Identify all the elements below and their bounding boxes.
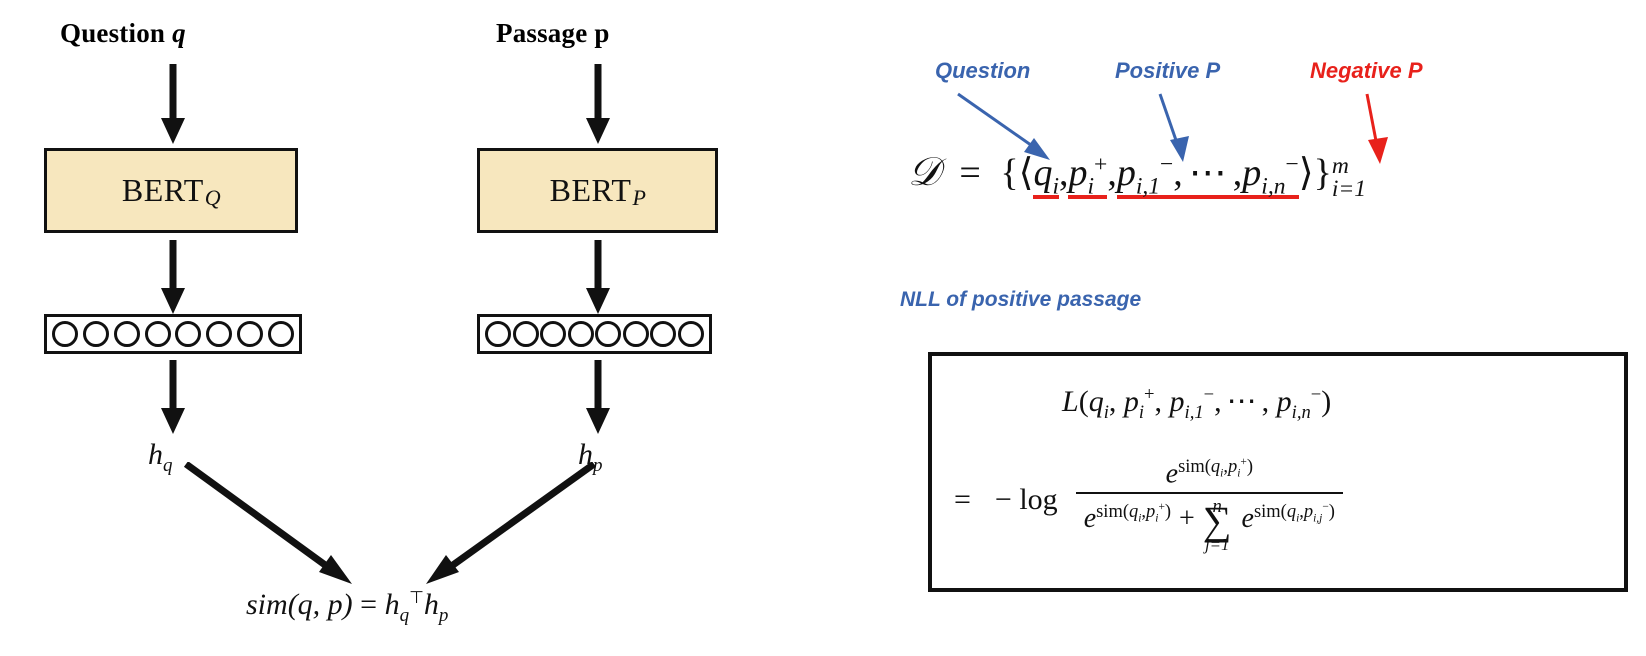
loss-formula-box: L(qi, pi+, pi,1−,⋯, pi,n−) = − log esim(… <box>928 352 1628 592</box>
den-sim-2: sim <box>1254 501 1281 521</box>
arrow-question-to-encoder <box>153 64 193 146</box>
embedding-cell <box>678 321 704 347</box>
embedding-cell <box>650 321 676 347</box>
encoder-box-passage-subscript: P <box>632 185 646 211</box>
den-p-1: p <box>1146 501 1155 521</box>
dataset-term-negative-last-sup: − <box>1286 151 1299 177</box>
loss-fraction-numerator: esim(qi,pi+) <box>1158 456 1261 492</box>
dataset-close-sub: i=1 <box>1332 178 1366 202</box>
hidden-vector-label-question: hq <box>148 438 173 477</box>
dataset-open-brace: {⟨ <box>1000 152 1033 194</box>
den-q-2: q <box>1287 501 1296 521</box>
loss-arg-pos-sub: i <box>1139 402 1144 423</box>
embedding-cell <box>595 321 621 347</box>
num-p: p <box>1228 456 1237 476</box>
loss-arg-negn-sub: i,n <box>1292 402 1311 423</box>
embedding-cell <box>114 321 140 347</box>
dataset-term-negatives: pi,1−,⋯,pi,n− <box>1117 152 1299 199</box>
dataset-term-negative-last-base: p <box>1242 152 1261 194</box>
loss-arg-neg1: p <box>1170 385 1185 418</box>
den-p-sub-2: i,j <box>1313 513 1322 525</box>
embedding-cell <box>485 321 511 347</box>
loss-arg-q-sub: i <box>1104 402 1109 423</box>
arrow-vector-to-hq <box>153 360 193 436</box>
similarity-rhs-base: h <box>385 588 400 621</box>
dataset-term-negative-first-sub: i,1 <box>1136 174 1160 200</box>
callout-label-question-text: Question <box>935 58 1030 83</box>
encoder-box-question[interactable]: BERTQ <box>44 148 298 233</box>
loss-arg-q: q <box>1089 385 1104 418</box>
encoder-box-passage-label: BERT <box>550 172 632 209</box>
loss-arg-negn: p <box>1277 385 1292 418</box>
arrow-encoder-to-vector-passage <box>578 240 618 316</box>
embedding-vector-question[interactable] <box>44 314 302 354</box>
similarity-transpose: ⊤ <box>409 588 424 607</box>
arrow-vector-to-hp <box>578 360 618 436</box>
embedding-cell <box>206 321 232 347</box>
dataset-term-negative-last-sub: i,n <box>1261 174 1285 200</box>
loss-arg-neg1-sub: i,1 <box>1185 402 1204 423</box>
loss-arg-pos-sup: + <box>1144 384 1155 405</box>
num-exp-base: e <box>1166 458 1178 489</box>
loss-formula-line1: L(qi, pi+, pi,1−,⋯, pi,n−) <box>1062 384 1331 424</box>
dataset-term-positive-sub: i <box>1087 174 1094 200</box>
callout-label-positive-text: Positive P <box>1115 58 1220 83</box>
num-sim: sim <box>1178 456 1205 476</box>
dataset-comma-2: , <box>1107 152 1117 194</box>
loss-arg-negn-sup: − <box>1311 384 1322 405</box>
num-p-sup: + <box>1240 456 1246 468</box>
similarity-rhs-base2: h <box>424 588 439 621</box>
dataset-term-question: qi <box>1033 152 1059 199</box>
callout-label-positive: Positive P <box>1115 58 1220 84</box>
embedding-cell <box>237 321 263 347</box>
dataset-ellipsis: ⋯ <box>1183 152 1233 194</box>
loss-fraction-denominator: esim(qi,pi+)+∑j=1nesim(qi,pi,j−) <box>1076 492 1343 544</box>
loss-open-paren: ( <box>1079 385 1089 418</box>
loss-fn-symbol: L <box>1062 385 1079 418</box>
dataset-term-negative-first-sup: − <box>1160 151 1173 177</box>
embedding-cell <box>175 321 201 347</box>
loss-equals: = <box>954 483 971 517</box>
dataset-term-positive-sup: + <box>1094 151 1107 177</box>
callout-label-negative: Negative P <box>1310 58 1423 84</box>
embedding-cell <box>83 321 109 347</box>
callout-label-question: Question <box>935 58 1030 84</box>
embedding-cell <box>568 321 594 347</box>
loss-section-label: NLL of positive passage <box>900 288 1141 312</box>
right-panel: Question Positive P Negative P 𝒟 = {⟨qi,… <box>880 0 1646 656</box>
encoder-box-question-subscript: Q <box>205 185 221 211</box>
den-q-1: q <box>1129 501 1138 521</box>
den-p-2: p <box>1304 501 1313 521</box>
dataset-equals: = <box>949 152 990 194</box>
dataset-close-sup: m <box>1332 155 1366 179</box>
question-branch-title: Question q <box>60 18 186 49</box>
figure-canvas: Question q Passage p BERTQ BERTP <box>0 0 1646 656</box>
encoder-box-question-label: BERT <box>122 172 204 209</box>
embedding-cell <box>268 321 294 347</box>
den-summation: ∑j=1n <box>1203 497 1232 544</box>
embedding-cell <box>145 321 171 347</box>
dataset-close-brace: ⟩} <box>1299 152 1332 194</box>
embedding-cell <box>540 321 566 347</box>
embedding-cell <box>513 321 539 347</box>
similarity-fn: sim <box>246 588 288 621</box>
loss-arg-pos: p <box>1124 385 1139 418</box>
loss-formula-line2: = − log esim(qi,pi+) esim(qi,pi+)+∑j=1ne… <box>954 456 1347 544</box>
arrow-passage-to-encoder <box>578 64 618 146</box>
den-sum-upper: n <box>1213 496 1222 518</box>
den-sum-lower: j=1 <box>1205 535 1229 555</box>
passage-branch-title-symbol: p <box>594 18 609 48</box>
den-q-sub-2: i <box>1296 513 1299 525</box>
dataset-term-question-base: q <box>1033 152 1052 194</box>
arrow-hp-to-similarity <box>376 462 636 602</box>
den-exp-base-2: e <box>1242 503 1254 534</box>
num-p-sub: i <box>1237 468 1240 480</box>
arrow-encoder-to-vector-question <box>153 240 193 316</box>
dataset-equation: 𝒟 = {⟨qi,pi+,pi,1−,⋯,pi,n−⟩}mi=1 <box>908 148 1366 201</box>
den-sim-1: sim <box>1096 501 1123 521</box>
hidden-vector-label-question-base: h <box>148 438 163 471</box>
loss-minus-log: − log <box>971 483 1072 517</box>
hidden-vector-label-question-sub: q <box>163 455 173 476</box>
loss-close-paren: ) <box>1321 385 1331 418</box>
den-exp-base-1: e <box>1084 503 1096 534</box>
den-p-sub-1: i <box>1155 513 1158 525</box>
den-p-sup-2: − <box>1322 501 1328 513</box>
left-diagram: Question q Passage p BERTQ BERTP <box>0 0 760 656</box>
callout-label-negative-text: Negative P <box>1310 58 1423 83</box>
loss-arg-ellipsis: ⋯ <box>1222 385 1262 418</box>
dataset-term-negative-first-base: p <box>1117 152 1136 194</box>
dataset-comma-3: , <box>1173 152 1183 194</box>
similarity-rhs-sub-right: p <box>439 605 449 626</box>
loss-section-label-text: NLL of positive passage <box>900 288 1141 311</box>
den-p-sup-1: + <box>1158 501 1164 513</box>
loss-arg-neg1-sup: − <box>1204 384 1215 405</box>
question-branch-title-symbol: q <box>172 18 186 48</box>
passage-branch-title-text: Passage <box>496 18 587 48</box>
num-q: q <box>1211 456 1220 476</box>
question-branch-title-text: Question <box>60 18 165 48</box>
embedding-vector-passage[interactable] <box>477 314 712 354</box>
similarity-equals: = <box>360 588 377 621</box>
similarity-rhs-sub-left: q <box>400 605 410 626</box>
dataset-comma-4: , <box>1233 152 1243 194</box>
similarity-args: (q, p) <box>288 588 353 621</box>
dataset-term-positive: pi+ <box>1068 152 1107 199</box>
embedding-cell <box>623 321 649 347</box>
num-q-sub: i <box>1220 468 1223 480</box>
passage-branch-title: Passage p <box>496 18 610 49</box>
den-plus: + <box>1171 503 1203 534</box>
loss-fraction: esim(qi,pi+) esim(qi,pi+)+∑j=1nesim(qi,p… <box>1076 456 1343 544</box>
encoder-box-passage[interactable]: BERTP <box>477 148 718 233</box>
embedding-cell <box>52 321 78 347</box>
similarity-formula: sim(q, p) = hq⊤hp <box>246 588 448 627</box>
dataset-symbol: 𝒟 <box>908 149 940 194</box>
den-q-sub-1: i <box>1138 513 1141 525</box>
dataset-term-positive-base: p <box>1068 152 1087 194</box>
